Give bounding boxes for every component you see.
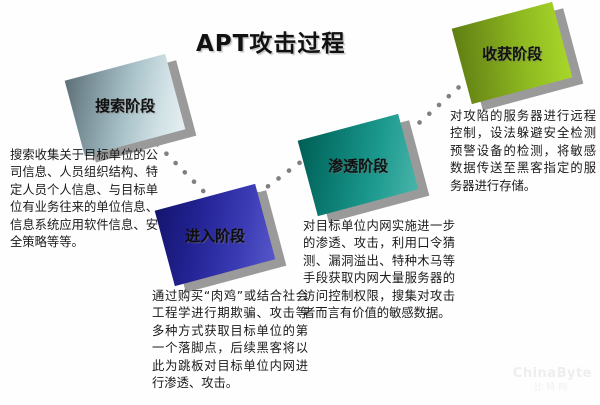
- stage-penetrate[interactable]: 渗透阶段: [306, 126, 410, 204]
- stage-enter-label: 进入阶段: [185, 225, 245, 246]
- stage-penetrate-description: 对目标单位内网实施进一步的渗透、攻击，利用口令猜测、漏洞溢出、特种木马等手段获取…: [303, 218, 455, 322]
- stage-harvest-description: 对攻陷的服务器进行远程控制，设法躲避安全检测预警设备的检测，将敏感数据传送至黑客…: [450, 108, 596, 195]
- stage-enter-description: 通过购买“肉鸡”或结合社会工程学进行期欺骗、攻击等多种方式获取目标单位的第一个落…: [152, 288, 308, 392]
- diagram-canvas: APT攻击过程 搜索阶段 进入阶段 渗透阶段 收获阶段 搜: [0, 0, 600, 405]
- stage-search[interactable]: 搜索阶段: [73, 66, 177, 144]
- watermark: ChinaByte 比特网: [513, 366, 592, 393]
- stage-search-description: 搜索收集关于目标单位的公司信息、人员组织结构、特定人员个人信息、与目标单位有业务…: [10, 147, 158, 251]
- stage-penetrate-label: 渗透阶段: [328, 155, 388, 176]
- page-title: APT攻击过程: [196, 24, 345, 58]
- stage-harvest-label: 收获阶段: [482, 43, 542, 64]
- stage-harvest[interactable]: 收获阶段: [460, 14, 564, 92]
- watermark-sub-text: 比特网: [513, 380, 592, 393]
- stage-search-label: 搜索阶段: [95, 95, 155, 116]
- stage-enter[interactable]: 进入阶段: [163, 196, 267, 274]
- watermark-main-text: ChinaByte: [513, 366, 592, 381]
